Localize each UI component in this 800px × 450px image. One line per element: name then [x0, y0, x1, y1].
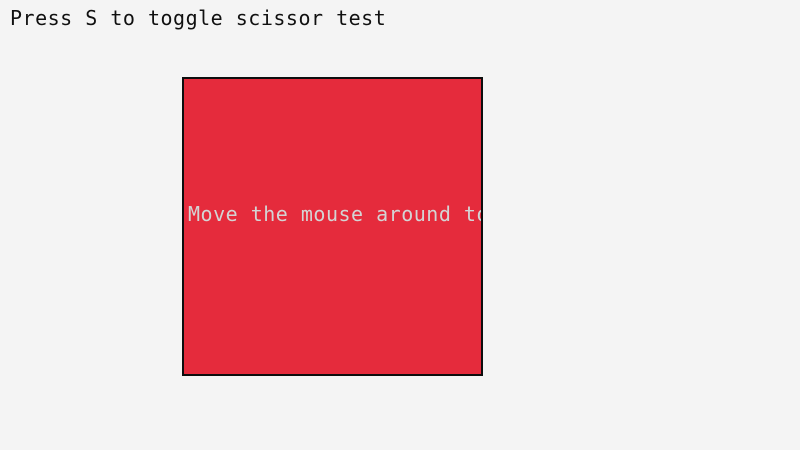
scissor-test-canvas: Press S to toggle scissor test Move the …	[0, 0, 800, 450]
scissor-clipped-message: Move the mouse around to reveal the full…	[188, 202, 483, 226]
scissor-rectangle[interactable]: Move the mouse around to reveal the full…	[182, 77, 483, 376]
toggle-scissor-hint: Press S to toggle scissor test	[10, 6, 386, 30]
